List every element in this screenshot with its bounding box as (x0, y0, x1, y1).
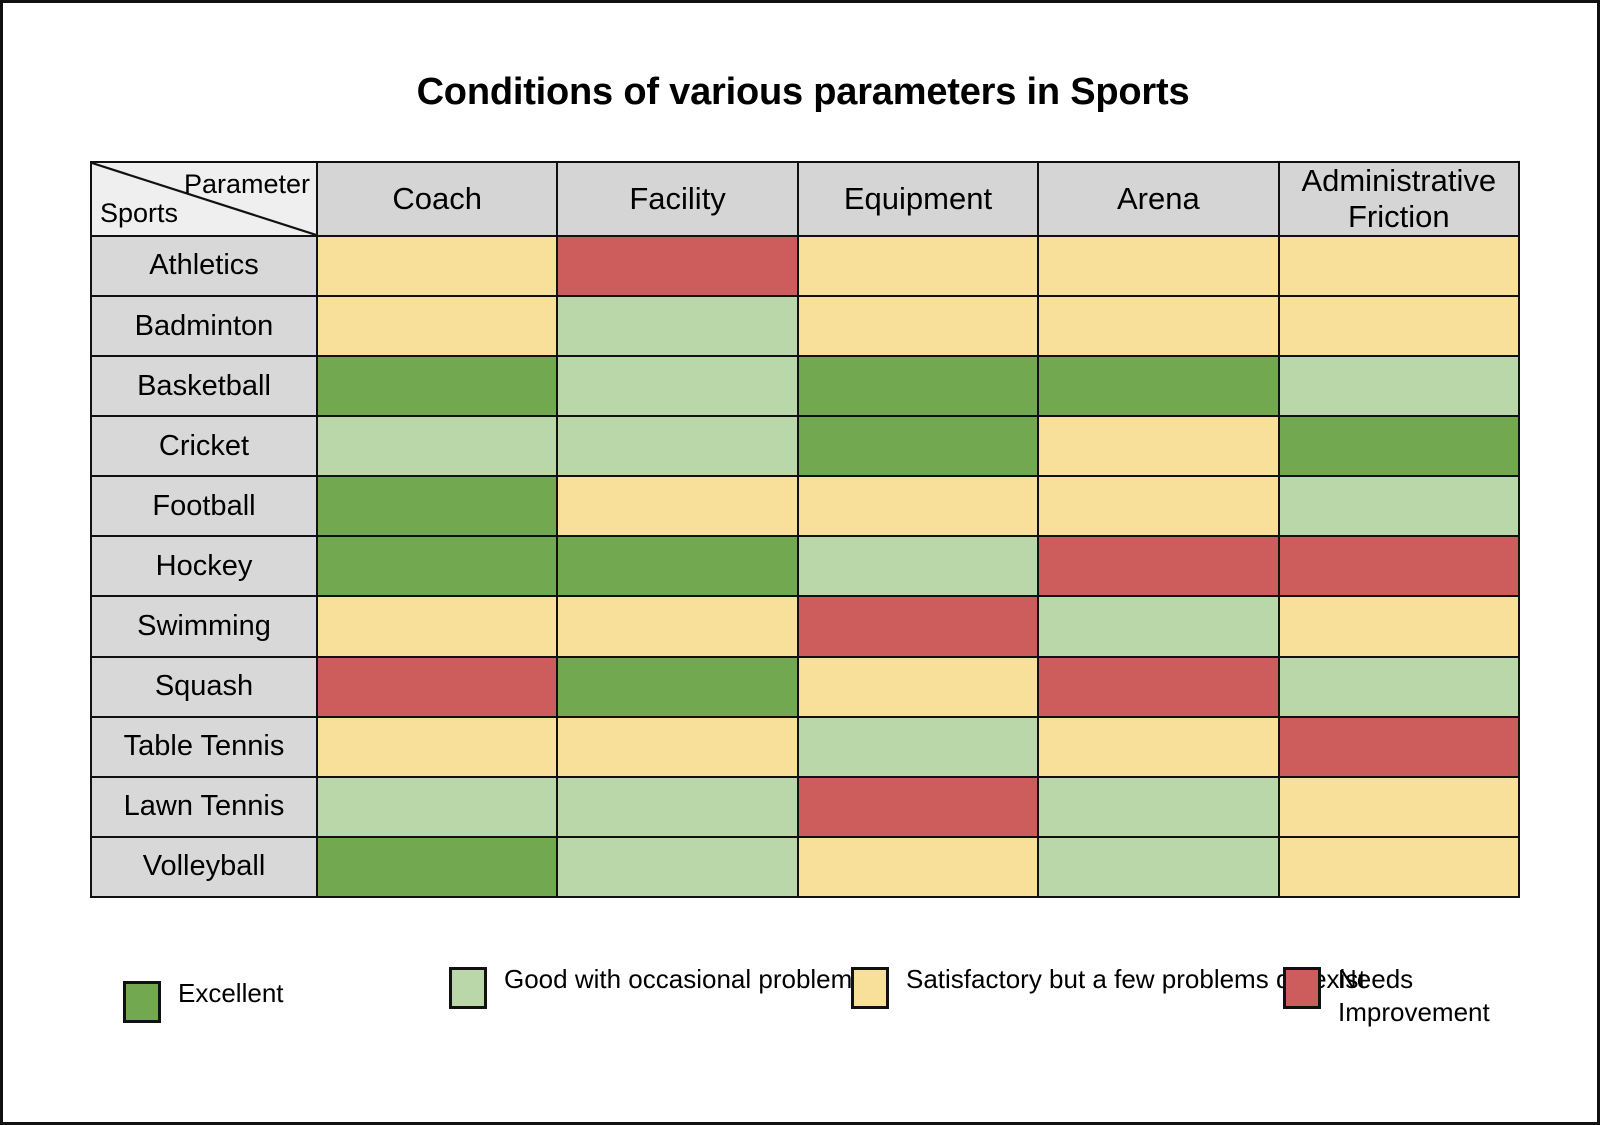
cell-athletics-administrative-friction (1279, 236, 1519, 296)
cell-basketball-facility (557, 356, 797, 416)
legend-swatch-satisfactory (851, 967, 889, 1009)
cell-football-equipment (798, 476, 1038, 536)
cell-cricket-equipment (798, 416, 1038, 476)
cell-squash-administrative-friction (1279, 657, 1519, 717)
cell-lawn-tennis-equipment (798, 777, 1038, 837)
table-row: Badminton (91, 296, 1519, 356)
chart-page: Conditions of various parameters in Spor… (0, 0, 1600, 1125)
cell-hockey-arena (1038, 536, 1278, 596)
cell-football-facility (557, 476, 797, 536)
cell-table-tennis-equipment (798, 717, 1038, 777)
legend-item-good: Good with occasional problems (449, 963, 865, 1009)
cell-hockey-administrative-friction (1279, 536, 1519, 596)
column-header-facility: Facility (557, 162, 797, 236)
table-row: Football (91, 476, 1519, 536)
row-header-table-tennis: Table Tennis (91, 717, 317, 777)
column-header-administrative-friction: Administrative Friction (1279, 162, 1519, 236)
row-header-hockey: Hockey (91, 536, 317, 596)
cell-badminton-arena (1038, 296, 1278, 356)
cell-lawn-tennis-facility (557, 777, 797, 837)
legend-item-needs-improvement: Needs Improvement (1283, 963, 1543, 1030)
table-row: Table Tennis (91, 717, 1519, 777)
cell-hockey-facility (557, 536, 797, 596)
row-header-volleyball: Volleyball (91, 837, 317, 897)
matrix-body: AthleticsBadmintonBasketballCricketFootb… (91, 236, 1519, 897)
cell-lawn-tennis-arena (1038, 777, 1278, 837)
cell-cricket-administrative-friction (1279, 416, 1519, 476)
page-title: Conditions of various parameters in Spor… (3, 71, 1600, 114)
table-row: Basketball (91, 356, 1519, 416)
cell-swimming-equipment (798, 596, 1038, 656)
corner-parameter-label: Parameter (184, 169, 310, 200)
row-header-lawn-tennis: Lawn Tennis (91, 777, 317, 837)
cell-football-arena (1038, 476, 1278, 536)
row-header-badminton: Badminton (91, 296, 317, 356)
cell-squash-arena (1038, 657, 1278, 717)
cell-table-tennis-arena (1038, 717, 1278, 777)
row-header-football: Football (91, 476, 317, 536)
legend-swatch-excellent (123, 981, 161, 1023)
corner-sports-label: Sports (100, 198, 178, 229)
cell-swimming-administrative-friction (1279, 596, 1519, 656)
legend-swatch-good (449, 967, 487, 1009)
cell-hockey-equipment (798, 536, 1038, 596)
cell-volleyball-coach (317, 837, 557, 897)
cell-cricket-facility (557, 416, 797, 476)
cell-cricket-coach (317, 416, 557, 476)
table-row: Squash (91, 657, 1519, 717)
cell-athletics-coach (317, 236, 557, 296)
cell-volleyball-equipment (798, 837, 1038, 897)
matrix-corner-cell: Parameter Sports (91, 162, 317, 236)
legend-item-excellent: Excellent (123, 977, 284, 1023)
cell-basketball-arena (1038, 356, 1278, 416)
table-row: Lawn Tennis (91, 777, 1519, 837)
cell-athletics-arena (1038, 236, 1278, 296)
cell-swimming-coach (317, 596, 557, 656)
cell-table-tennis-facility (557, 717, 797, 777)
cell-table-tennis-administrative-friction (1279, 717, 1519, 777)
cell-cricket-arena (1038, 416, 1278, 476)
cell-lawn-tennis-administrative-friction (1279, 777, 1519, 837)
row-header-squash: Squash (91, 657, 317, 717)
conditions-matrix: Parameter Sports Coach Facility Equipmen… (90, 161, 1520, 898)
column-header-equipment: Equipment (798, 162, 1038, 236)
cell-basketball-equipment (798, 356, 1038, 416)
cell-football-coach (317, 476, 557, 536)
cell-lawn-tennis-coach (317, 777, 557, 837)
cell-squash-coach (317, 657, 557, 717)
cell-volleyball-administrative-friction (1279, 837, 1519, 897)
legend-label-good: Good with occasional problems (504, 963, 865, 996)
legend-label-needs-improvement: Needs Improvement (1338, 963, 1543, 1030)
row-header-athletics: Athletics (91, 236, 317, 296)
cell-squash-equipment (798, 657, 1038, 717)
cell-badminton-equipment (798, 296, 1038, 356)
cell-badminton-administrative-friction (1279, 296, 1519, 356)
cell-athletics-facility (557, 236, 797, 296)
legend-label-excellent: Excellent (178, 977, 284, 1010)
table-row: Cricket (91, 416, 1519, 476)
row-header-swimming: Swimming (91, 596, 317, 656)
cell-swimming-facility (557, 596, 797, 656)
cell-athletics-equipment (798, 236, 1038, 296)
cell-squash-facility (557, 657, 797, 717)
cell-basketball-coach (317, 356, 557, 416)
row-header-cricket: Cricket (91, 416, 317, 476)
cell-basketball-administrative-friction (1279, 356, 1519, 416)
cell-table-tennis-coach (317, 717, 557, 777)
row-header-basketball: Basketball (91, 356, 317, 416)
legend-swatch-needs-improvement (1283, 967, 1321, 1009)
cell-badminton-coach (317, 296, 557, 356)
column-header-arena: Arena (1038, 162, 1278, 236)
cell-volleyball-arena (1038, 837, 1278, 897)
cell-football-administrative-friction (1279, 476, 1519, 536)
matrix-header-row: Parameter Sports Coach Facility Equipmen… (91, 162, 1519, 236)
table-row: Swimming (91, 596, 1519, 656)
legend: Excellent Good with occasional problems … (123, 963, 1543, 1073)
cell-swimming-arena (1038, 596, 1278, 656)
matrix-container: Parameter Sports Coach Facility Equipmen… (90, 161, 1520, 898)
table-row: Hockey (91, 536, 1519, 596)
table-row: Athletics (91, 236, 1519, 296)
cell-hockey-coach (317, 536, 557, 596)
column-header-coach: Coach (317, 162, 557, 236)
cell-volleyball-facility (557, 837, 797, 897)
table-row: Volleyball (91, 837, 1519, 897)
cell-badminton-facility (557, 296, 797, 356)
